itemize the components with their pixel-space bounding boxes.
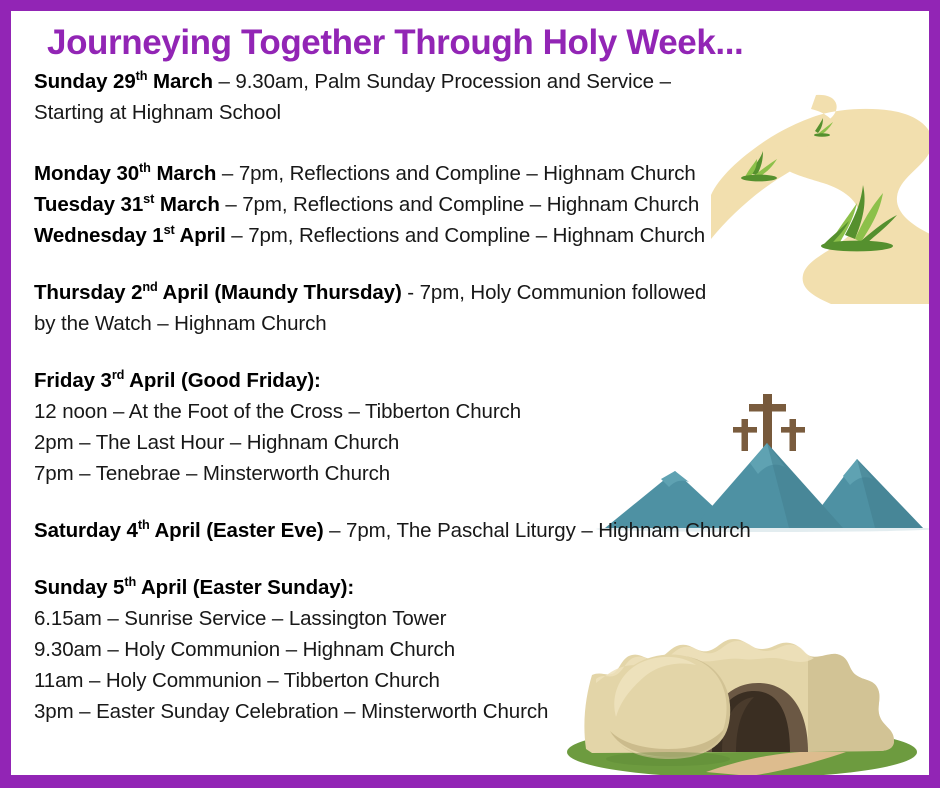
schedule-line: Friday 3rd April (Good Friday): <box>34 365 928 396</box>
poster-canvas: Journeying Together Through Holy Week...… <box>11 11 929 775</box>
spacer <box>23 339 928 365</box>
schedule-line: 2pm – The Last Hour – Highnam Church <box>34 427 928 458</box>
poster-frame: Journeying Together Through Holy Week...… <box>0 0 940 788</box>
schedule-line: 12 noon – At the Foot of the Cross – Tib… <box>34 396 928 427</box>
schedule-line: 6.15am – Sunrise Service – Lassington To… <box>34 603 928 634</box>
schedule-line: 9.30am – Holy Communion – Highnam Church <box>34 634 928 665</box>
schedule-line: Sunday 5th April (Easter Sunday): <box>34 572 928 603</box>
schedule-block-maundy-thursday: Thursday 2nd April (Maundy Thursday) - 7… <box>23 277 928 339</box>
spacer <box>23 128 928 158</box>
schedule-block-monday-to-wednesday: Monday 30th March – 7pm, Reflections and… <box>23 158 928 251</box>
page-title: Journeying Together Through Holy Week... <box>23 11 928 66</box>
schedule-line: Sunday 29th March – 9.30am, Palm Sunday … <box>34 66 928 97</box>
poster-content: Journeying Together Through Holy Week...… <box>23 11 928 727</box>
schedule-block-easter-sunday: Sunday 5th April (Easter Sunday): 6.15am… <box>23 572 928 727</box>
schedule-block-palm-sunday: Sunday 29th March – 9.30am, Palm Sunday … <box>23 66 928 128</box>
spacer <box>23 546 928 572</box>
spacer <box>23 489 928 515</box>
schedule-block-easter-eve: Saturday 4th April (Easter Eve) – 7pm, T… <box>23 515 928 546</box>
schedule-line: Saturday 4th April (Easter Eve) – 7pm, T… <box>34 515 928 546</box>
schedule-line: Wednesday 1st April – 7pm, Reflections a… <box>34 220 928 251</box>
schedule-line: Tuesday 31st March – 7pm, Reflections an… <box>34 189 928 220</box>
schedule-line: Monday 30th March – 7pm, Reflections and… <box>34 158 928 189</box>
schedule-line: 11am – Holy Communion – Tibberton Church <box>34 665 928 696</box>
schedule-line: 7pm – Tenebrae – Minsterworth Church <box>34 458 928 489</box>
spacer <box>23 251 928 277</box>
schedule-line: Starting at Highnam School <box>34 97 928 128</box>
schedule-line: by the Watch – Highnam Church <box>34 308 928 339</box>
schedule-block-good-friday: Friday 3rd April (Good Friday): 12 noon … <box>23 365 928 489</box>
schedule-line: Thursday 2nd April (Maundy Thursday) - 7… <box>34 277 928 308</box>
schedule-line: 3pm – Easter Sunday Celebration – Minste… <box>34 696 928 727</box>
